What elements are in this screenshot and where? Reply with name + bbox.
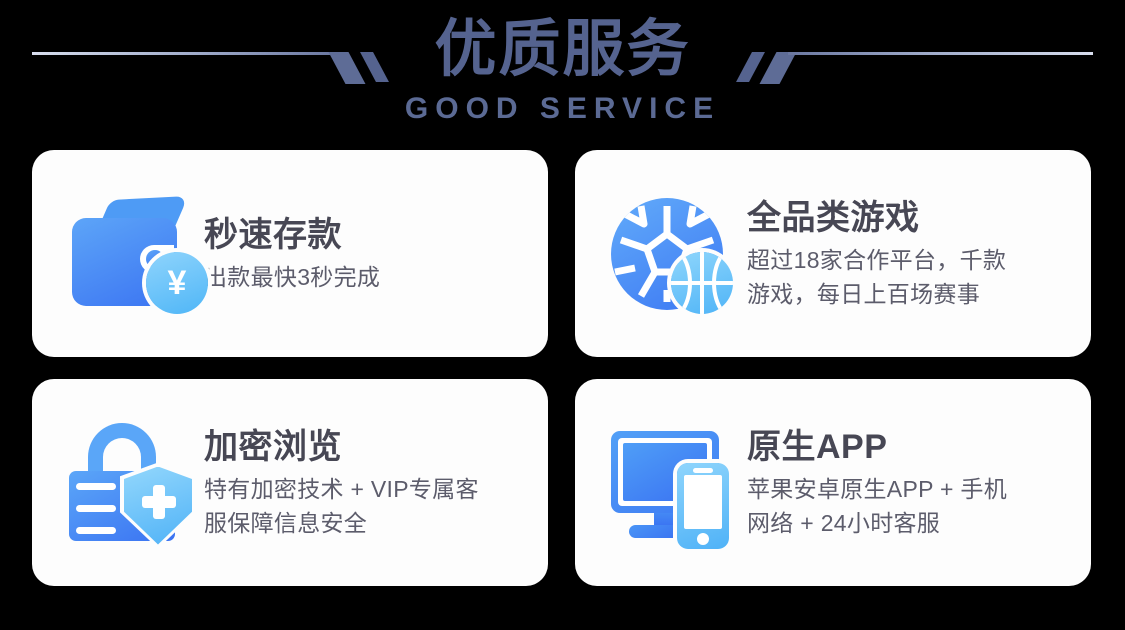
card-text-group: 原生APP 苹果安卓原生APP + 手机 网络 + 24小时客服 [747,426,1025,540]
card-description: 超过18家合作平台，千款 游戏，每日上百场赛事 [747,243,1006,311]
header-text-group: 优质服务 GOOD SERVICE [0,14,1125,126]
feature-card-deposit[interactable]: ¥ 秒速存款 出款最快3秒完成 [32,150,548,357]
feature-card-games[interactable]: 全品类游戏 超过18家合作平台，千款 游戏，每日上百场赛事 [575,150,1091,357]
basketball-icon [671,252,733,314]
yen-symbol-icon: ¥ [146,252,208,314]
card-text-group: 秒速存款 出款最快3秒完成 [204,214,398,294]
phone-home-button-icon [697,533,709,545]
lock-slot-icon [76,483,116,490]
wallet-yen-icon: ¥ [62,188,194,320]
page-subtitle: GOOD SERVICE [0,92,1125,126]
phone-screen-icon [684,475,722,529]
card-title: 加密浏览 [204,426,479,468]
cross-icon [142,496,176,508]
banner-header: 优质服务 GOOD SERVICE [0,0,1125,148]
lock-slot-icon [76,505,116,512]
page-title: 优质服务 [0,14,1125,86]
card-description: 苹果安卓原生APP + 手机 网络 + 24小时客服 [747,472,1007,540]
basketball-lines-icon [671,252,733,314]
promo-banner: 优质服务 GOOD SERVICE ¥ 秒速存款 出款最快3秒完成 [0,0,1125,630]
phone-speaker-icon [693,468,713,473]
card-text-group: 全品类游戏 超过18家合作平台，千款 游戏，每日上百场赛事 [747,197,1024,311]
card-description: 出款最快3秒完成 [204,260,380,294]
card-description: 特有加密技术 + VIP专属客 服保障信息安全 [204,472,479,540]
feature-card-native-app[interactable]: 原生APP 苹果安卓原生APP + 手机 网络 + 24小时客服 [575,379,1091,586]
card-title: 秒速存款 [204,214,380,256]
card-title: 全品类游戏 [747,197,1006,239]
soccer-basketball-icon [605,188,737,320]
feature-card-grid: ¥ 秒速存款 出款最快3秒完成 [32,150,1093,586]
card-title: 原生APP [747,426,1007,468]
feature-card-encryption[interactable]: 加密浏览 特有加密技术 + VIP专属客 服保障信息安全 [32,379,548,586]
lock-slot-icon [76,527,116,534]
lock-shield-icon [62,417,194,549]
card-text-group: 加密浏览 特有加密技术 + VIP专属客 服保障信息安全 [204,426,497,540]
monitor-phone-icon [605,417,737,549]
